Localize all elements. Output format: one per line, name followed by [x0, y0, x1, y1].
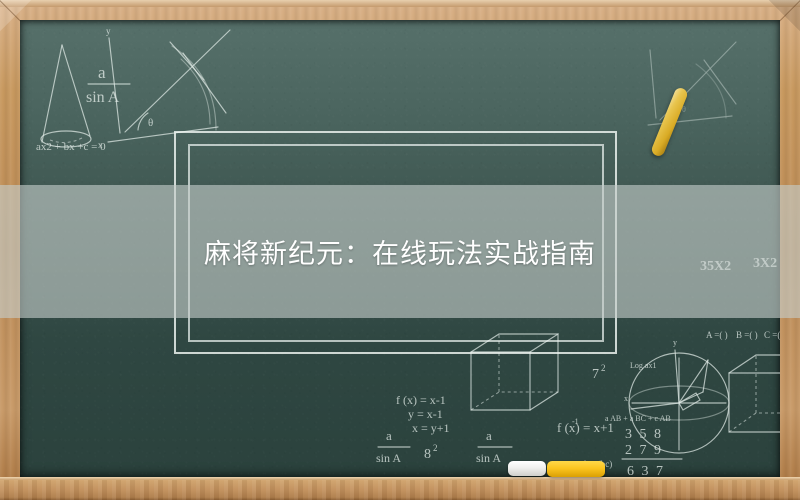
yellow-chalk[interactable]: [547, 461, 605, 477]
chalk-text-matrix-c: C =( ): [764, 330, 780, 340]
blackboard-banner-stage: a sin A ax2 + bx +c = 0 y x θ: [0, 0, 800, 500]
chalk-text-law-sines-sina3: sin A: [476, 451, 501, 465]
chalk-text-law-sines-sina2: sin A: [376, 451, 401, 465]
chalk-text-seven-sq: 7: [592, 367, 599, 382]
chalk-text-eight-exp: 2: [433, 443, 438, 453]
chalk-text-inverse-fx: f (x) = x+1: [557, 420, 614, 435]
chalk-text-law-sines-a3: a: [486, 428, 492, 443]
chalk-sphere-axis-x: x: [624, 394, 628, 403]
chalk-angle-diagram-small: θ: [648, 42, 736, 125]
chalk-text-matrix-b: B =( ): [736, 330, 758, 340]
chalk-sum-row3: 6 3 7: [627, 464, 665, 477]
page-title: 麻将新纪元：在线玩法实战指南: [0, 185, 800, 318]
chalk-text-law-sines-a2: a: [386, 428, 392, 443]
chalk-axis-label-x: x: [98, 140, 103, 150]
chalk-sum-row1: 3 5 8: [625, 427, 663, 442]
ledge-wood-grain: [0, 477, 800, 500]
chalk-text-quadratic: ax2 + bx +c = 0: [36, 141, 106, 153]
chalk-sphere-axis-y: y: [673, 338, 677, 347]
chalk-angle-theta: θ: [148, 117, 153, 129]
chalk-text-fx3: x = y+1: [412, 421, 450, 435]
ledge-front-lip: [0, 477, 800, 480]
chalk-ledge: [0, 477, 800, 500]
chalk-sum-row2: 2 7 9: [625, 443, 663, 458]
frame-top-highlight: [0, 0, 800, 7]
chalk-function-equations: f (x) = x-1 y = x-1 x = y+1: [396, 393, 450, 435]
chalk-addition-column: 3 5 8 2 7 9 6 3 7: [622, 427, 682, 477]
chalk-text-inverse-exp: -1: [572, 417, 579, 426]
white-chalk[interactable]: [508, 461, 546, 476]
chalk-text-seven-exp: 2: [601, 363, 606, 373]
chalk-axis-label-y: y: [106, 26, 111, 36]
chalk-text-eight-sq: 8: [424, 447, 431, 462]
chalk-text-fx2: y = x-1: [408, 407, 443, 421]
chalk-text-fx1: f (x) = x-1: [396, 393, 446, 407]
chalk-cone-drawing: [41, 45, 91, 147]
chalk-text-matrix-a: A =( ): [706, 330, 728, 340]
chalk-cube-right: [729, 355, 780, 432]
chalk-text-law-sines-a1: a: [98, 63, 106, 82]
